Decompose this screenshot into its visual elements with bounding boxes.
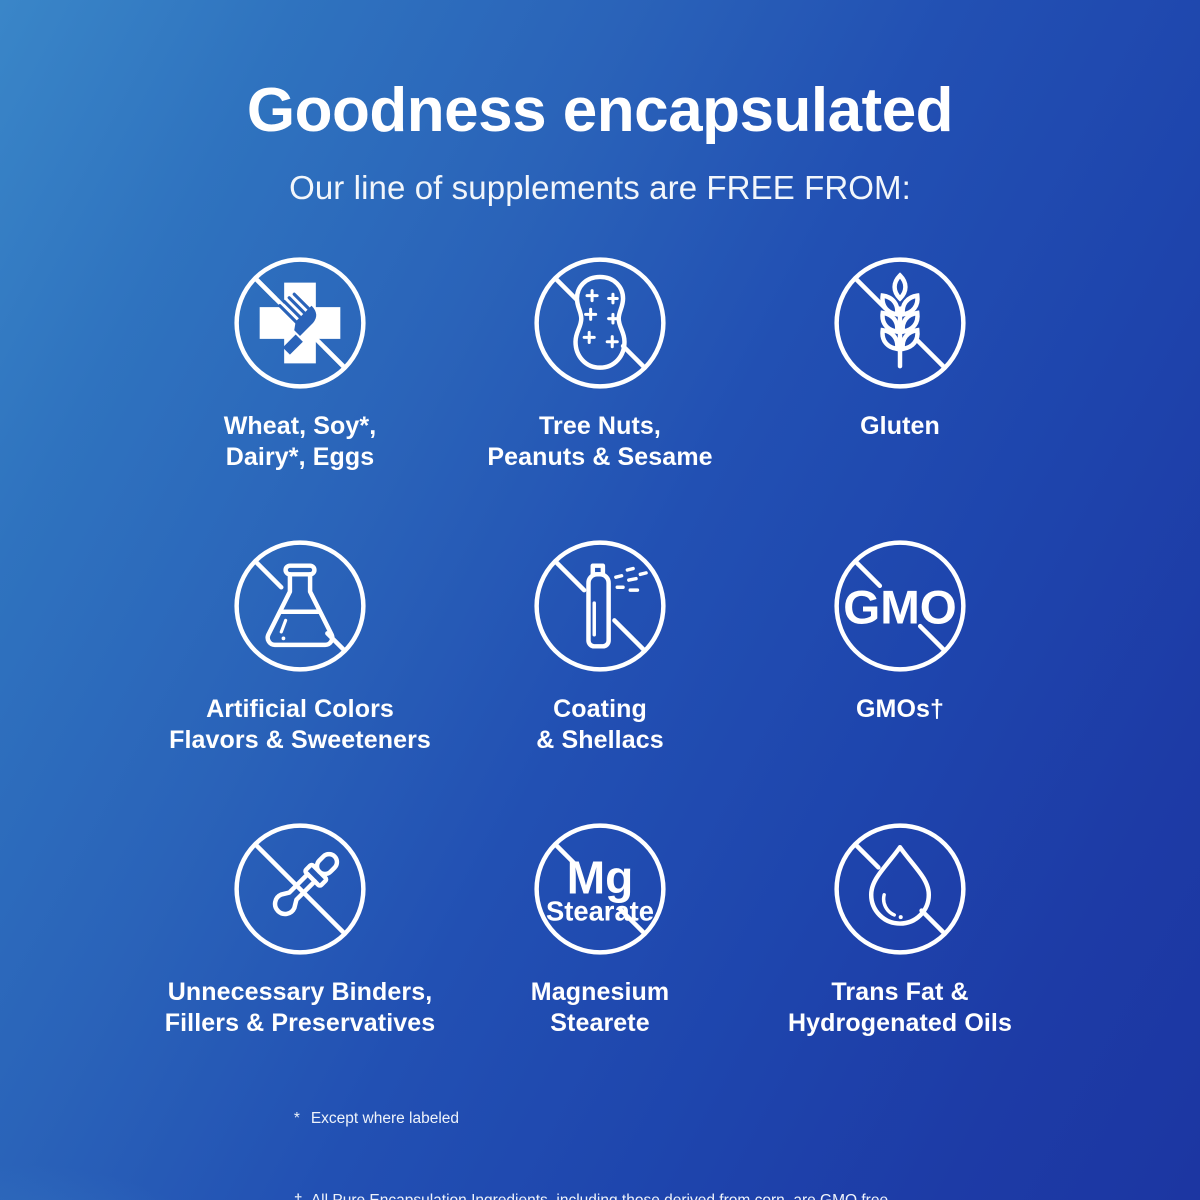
free-from-item-magnesium-stearate: Mg Stearate Magnesium Stearete (450, 817, 750, 1100)
free-from-item-label: Coating & Shellacs (536, 694, 663, 755)
free-from-grid: Wheat, Soy*, Dairy*, Eggs (150, 251, 1050, 1100)
no-oil-droplet-icon (828, 817, 972, 961)
free-from-item-label: Wheat, Soy*, Dairy*, Eggs (224, 411, 377, 472)
footnote-text: All Pure Encapsulation Ingredients, incl… (311, 1192, 893, 1200)
no-spray-can-icon (528, 534, 672, 678)
free-from-item-label: Tree Nuts, Peanuts & Sesame (487, 411, 712, 472)
footnote-asterisk: *Except where labeled (268, 1078, 1200, 1159)
free-from-item-label: Unnecessary Binders, Fillers & Preservat… (165, 977, 436, 1038)
free-from-item-label: Artificial Colors Flavors & Sweeteners (169, 694, 431, 755)
no-peanut-icon (528, 251, 672, 395)
free-from-item-trans-fat: Trans Fat & Hydrogenated Oils (750, 817, 1050, 1100)
no-magnesium-stearate-icon: Mg Stearate (528, 817, 672, 961)
free-from-item-label: Gluten (860, 411, 940, 442)
footnotes: *Except where labeled †All Pure Encapsul… (268, 1078, 1200, 1200)
footnote-text: Except where labeled (311, 1110, 459, 1127)
stearate-icon-text: Stearate (546, 896, 654, 927)
footnote-mark: * (294, 1105, 311, 1132)
free-from-item-coating: Coating & Shellacs (450, 534, 750, 817)
page-title: Goodness encapsulated (0, 0, 1200, 143)
footnote-dagger: †All Pure Encapsulation Ingredients, inc… (268, 1159, 1200, 1200)
no-dropper-icon (228, 817, 372, 961)
no-allergen-cross-fork-icon (228, 251, 372, 395)
free-from-item-artificial-colors: Artificial Colors Flavors & Sweeteners (150, 534, 450, 817)
no-wheat-stalk-icon (828, 251, 972, 395)
free-from-item-label: GMOs† (856, 694, 944, 725)
page-subtitle: Our line of supplements are FREE FROM: (0, 169, 1200, 207)
free-from-item-allergens: Wheat, Soy*, Dairy*, Eggs (150, 251, 450, 534)
free-from-item-label: Trans Fat & Hydrogenated Oils (788, 977, 1012, 1038)
footnote-mark: † (294, 1187, 311, 1200)
free-from-item-gmo: GMO GMOs† (750, 534, 1050, 817)
free-from-item-nuts: Tree Nuts, Peanuts & Sesame (450, 251, 750, 534)
free-from-item-binders: Unnecessary Binders, Fillers & Preservat… (150, 817, 450, 1100)
free-from-item-gluten: Gluten (750, 251, 1050, 534)
poster: Goodness encapsulated Our line of supple… (0, 0, 1200, 1200)
no-gmo-icon: GMO (828, 534, 972, 678)
gmo-icon-text: GMO (843, 581, 957, 634)
no-flask-icon (228, 534, 372, 678)
free-from-item-label: Magnesium Stearete (531, 977, 669, 1038)
